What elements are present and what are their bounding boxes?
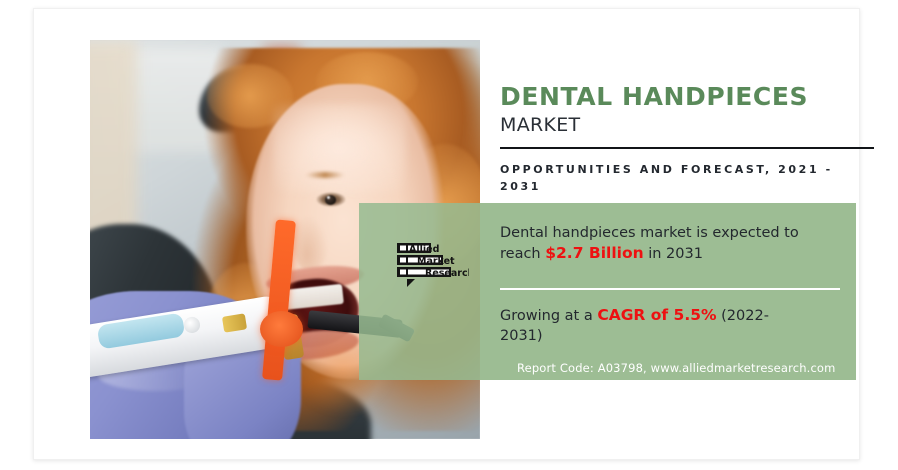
report-banner: DENTAL HANDPIECES MARKET OPPORTUNITIES A…	[0, 0, 898, 470]
stat-cagr-prefix: Growing at a	[500, 308, 597, 324]
shield-disc	[260, 311, 303, 347]
stat-cagr: Growing at a CAGR of 5.5% (2022-2031)	[500, 305, 810, 346]
logo-text-market: Market	[417, 256, 455, 267]
stat-market-value: Dental handpieces market is expected to …	[500, 223, 840, 264]
stats-divider	[500, 288, 840, 290]
page-title: DENTAL HANDPIECES	[500, 84, 880, 111]
stat-value-highlight: $2.7 Billion	[545, 244, 643, 262]
patient-eyebrow	[305, 172, 345, 178]
report-code-footer: Report Code: A03798, www.alliedmarketres…	[517, 361, 857, 375]
stat-cagr-highlight: CAGR of 5.5%	[597, 306, 716, 324]
patient-forehead	[273, 104, 406, 192]
eye-glint	[327, 196, 330, 199]
logo-text-allied: Allied	[409, 244, 439, 255]
patient-nose	[293, 216, 328, 272]
stat-value-suffix: in 2031	[644, 246, 703, 262]
logo-text-research: Research	[425, 268, 469, 279]
allied-market-research-logo: Allied Market Research	[395, 241, 469, 289]
page-subtitle: MARKET	[500, 114, 580, 136]
patient-eye	[316, 192, 346, 207]
title-divider	[500, 147, 874, 149]
forecast-kicker: OPPORTUNITIES AND FORECAST, 2021 - 2031	[500, 161, 860, 195]
content-card: DENTAL HANDPIECES MARKET OPPORTUNITIES A…	[33, 8, 860, 460]
